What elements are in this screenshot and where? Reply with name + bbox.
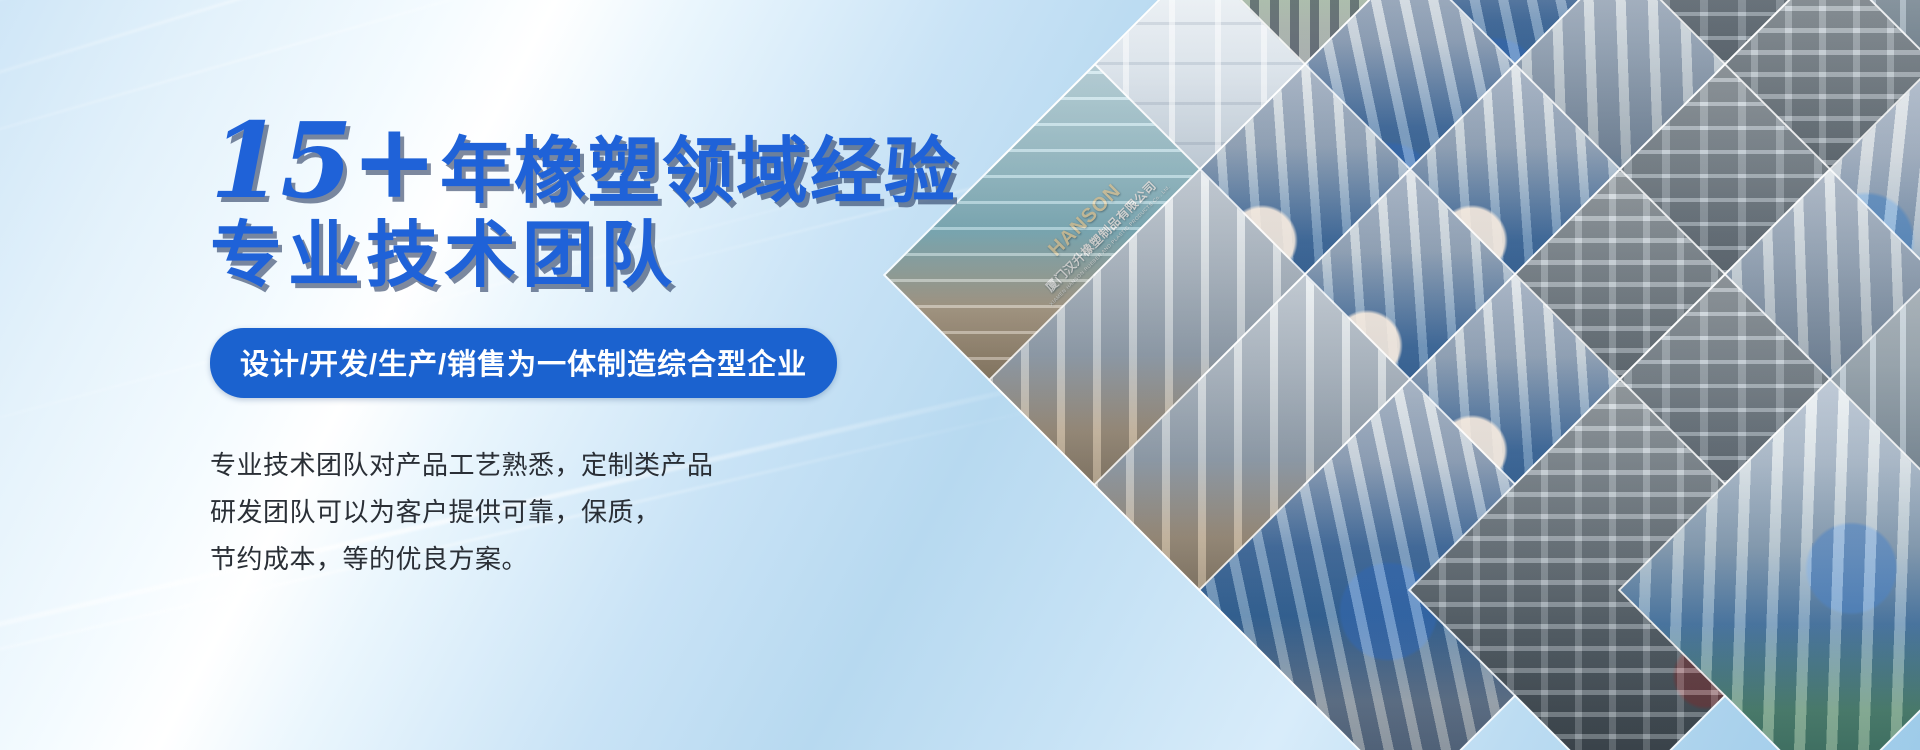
description-paragraph: 专业技术团队对产品工艺熟悉，定制类产品 研发团队可以为客户提供可靠，保质， 节约… bbox=[210, 442, 970, 584]
description-line-3: 节约成本，等的优良方案。 bbox=[210, 536, 970, 583]
description-line-2: 研发团队可以为客户提供可靠，保质， bbox=[210, 489, 970, 536]
business-scope-pill[interactable]: 设计/开发/生产/销售为一体制造综合型企业 bbox=[210, 328, 837, 398]
hero-banner: HANSON 厦门汉升橡塑制品有限公司 XIAMEN HANSON RUBBER… bbox=[0, 0, 1920, 750]
years-number: 15 bbox=[210, 112, 351, 211]
headline-line-2: 专业技术团队 bbox=[210, 213, 970, 298]
description-line-1: 专业技术团队对产品工艺熟悉，定制类产品 bbox=[210, 442, 970, 489]
plus-sign: + bbox=[351, 112, 436, 211]
headline-line-1-text: 年橡塑领域经验 bbox=[440, 135, 958, 207]
headline-line-1: 15 + 年橡塑领域经验 bbox=[210, 108, 970, 207]
headline: 15 + 年橡塑领域经验 专业技术团队 bbox=[210, 108, 970, 298]
banner-content: 15 + 年橡塑领域经验 专业技术团队 设计/开发/生产/销售为一体制造综合型企… bbox=[210, 0, 970, 750]
